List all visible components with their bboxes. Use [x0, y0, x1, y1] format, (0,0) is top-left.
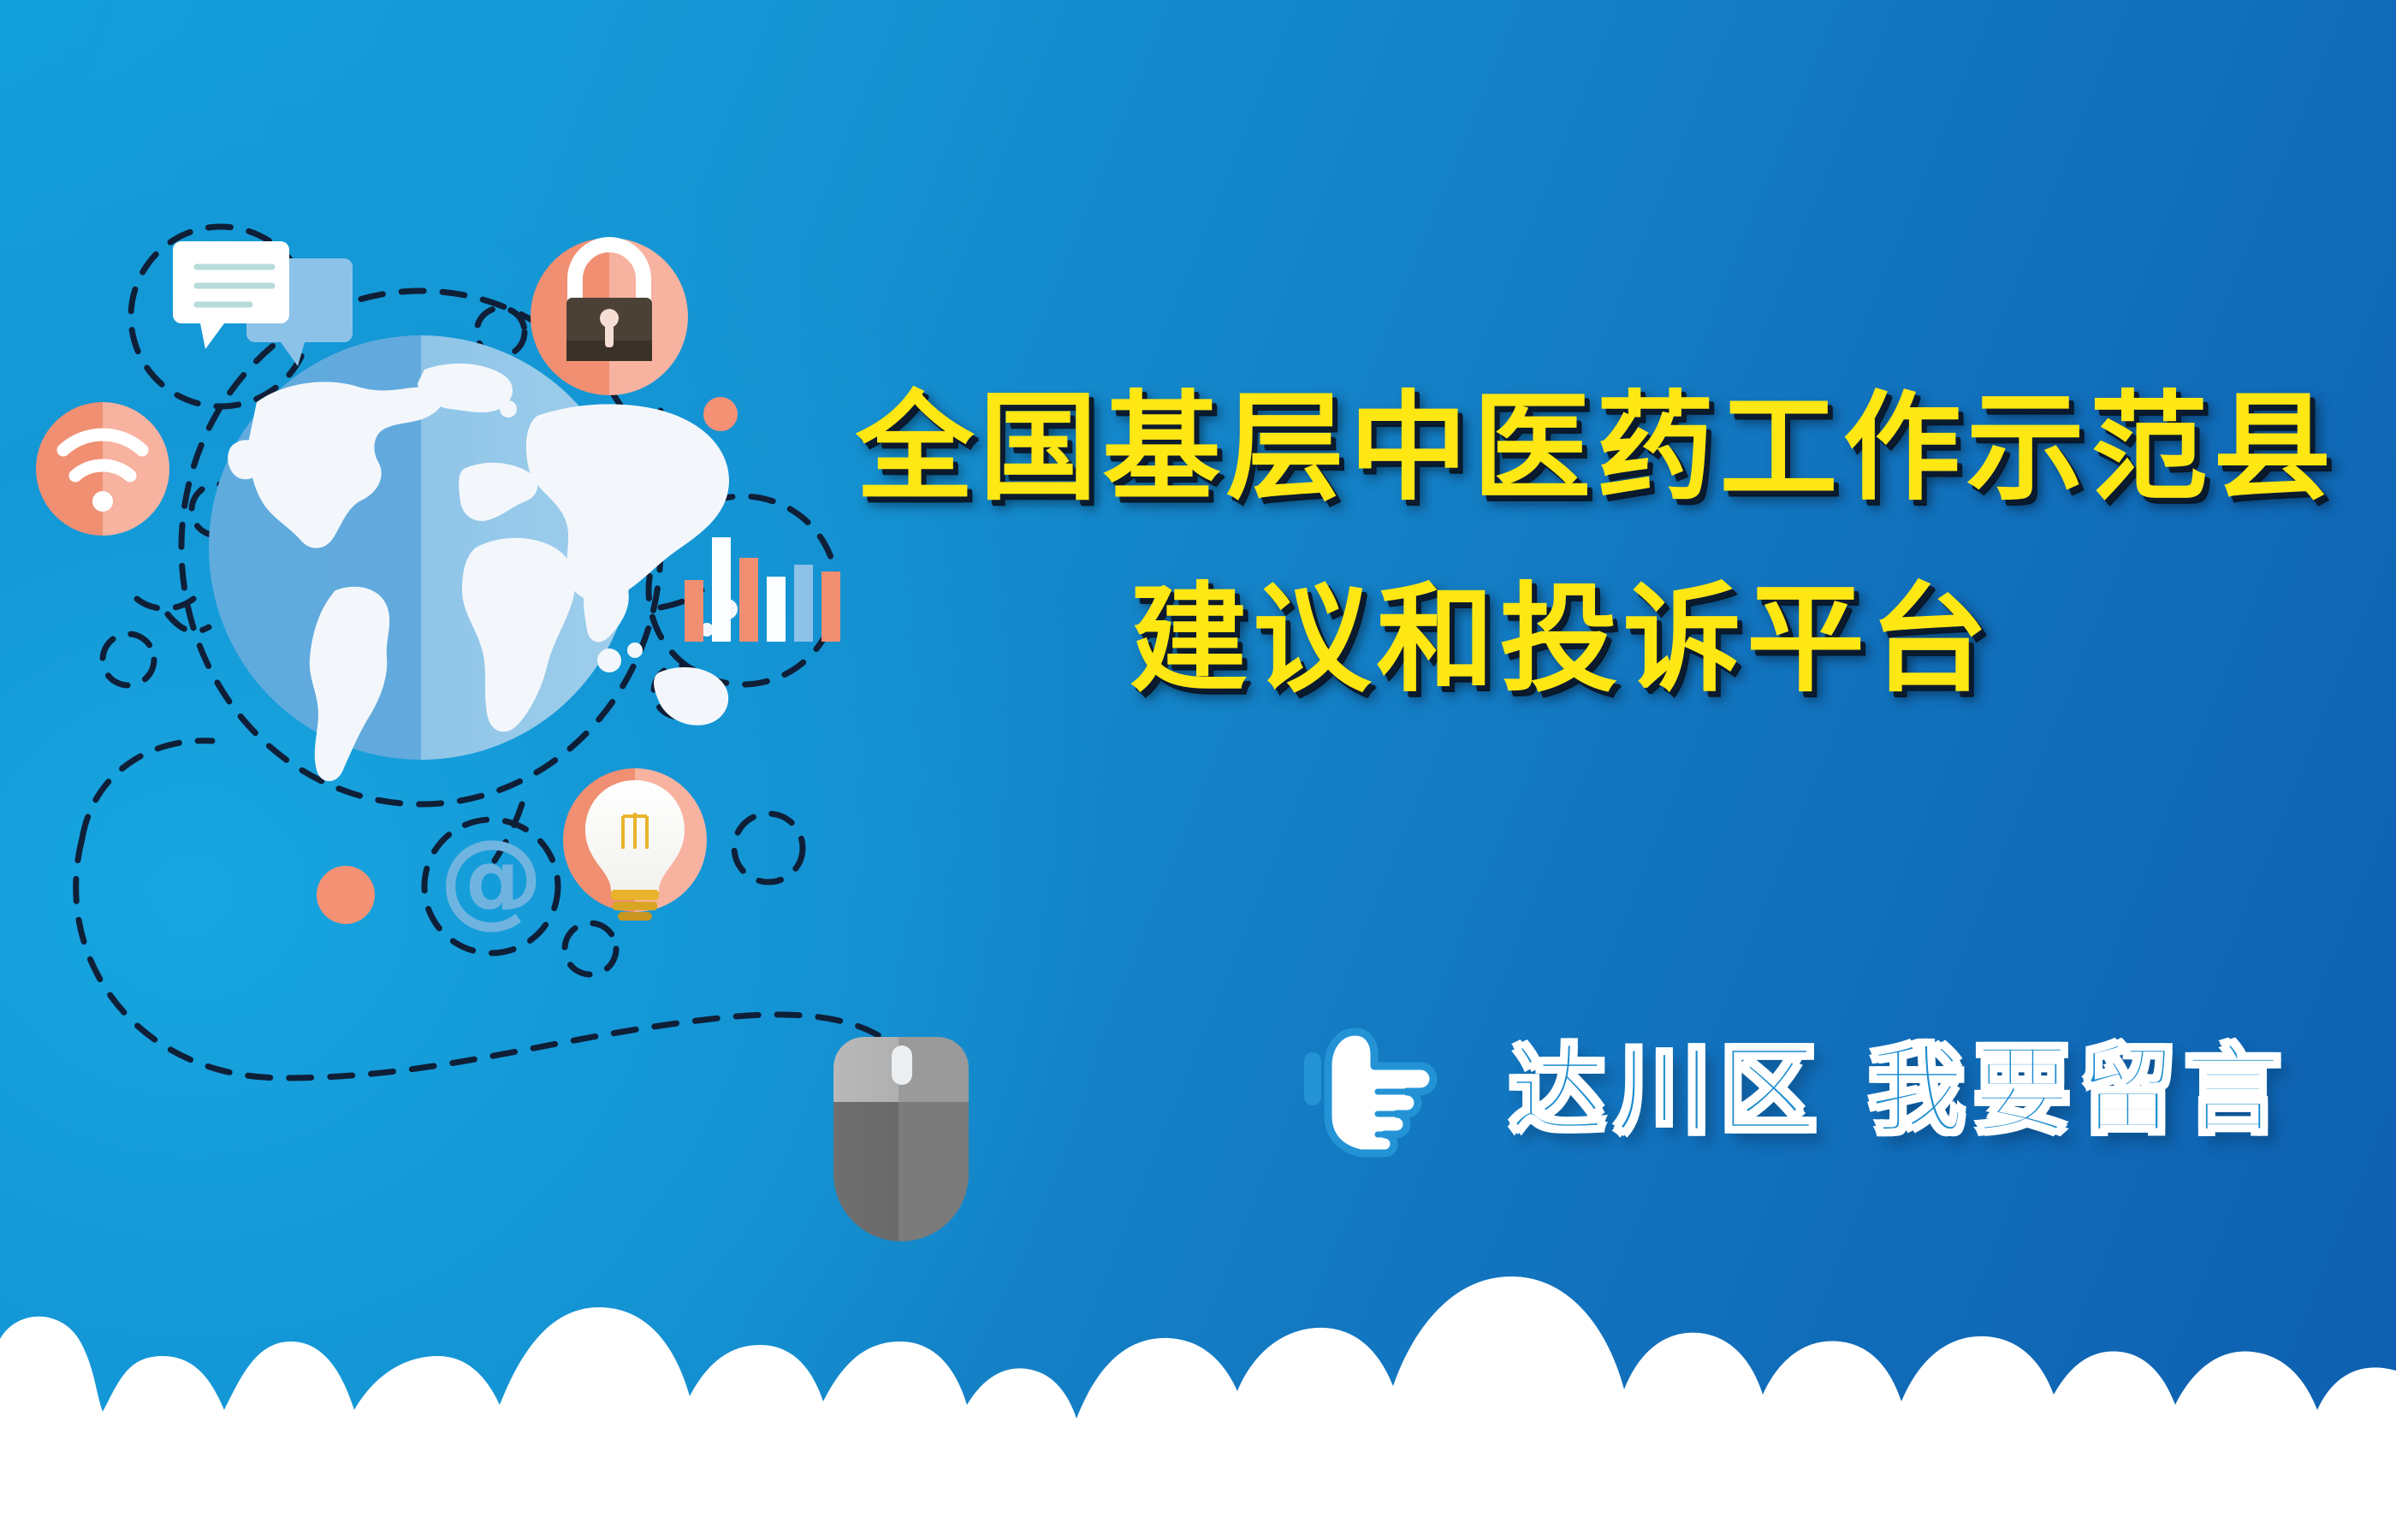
leave-message-cta[interactable]: 达川区 我要留言: [1301, 1010, 2291, 1172]
svg-text:@: @: [439, 817, 543, 939]
lock-icon: [531, 238, 688, 395]
pointing-hand-icon: [1301, 1010, 1463, 1172]
leave-message-label[interactable]: 达川区 我要留言: [1509, 1043, 2291, 1139]
promo-banner: @ 全国基层中医药工作示范县: [0, 0, 2396, 1540]
chat-bubbles-icon: [173, 241, 353, 366]
at-sign-icon: @: [439, 817, 543, 939]
headline-line-2: 建议和投诉平台: [856, 581, 2328, 699]
headline-line-1: 全国基层中医药工作示范县: [856, 389, 2328, 507]
coral-dot-small: [317, 866, 375, 924]
wifi-icon: [36, 402, 169, 536]
lightbulb-icon: [563, 768, 707, 921]
cloud-decoration: [0, 1181, 2396, 1540]
headline-block: 全国基层中医药工作示范县 建议和投诉平台: [856, 389, 2328, 699]
globe-icon: [209, 335, 738, 781]
coral-dot-small: [703, 397, 738, 431]
